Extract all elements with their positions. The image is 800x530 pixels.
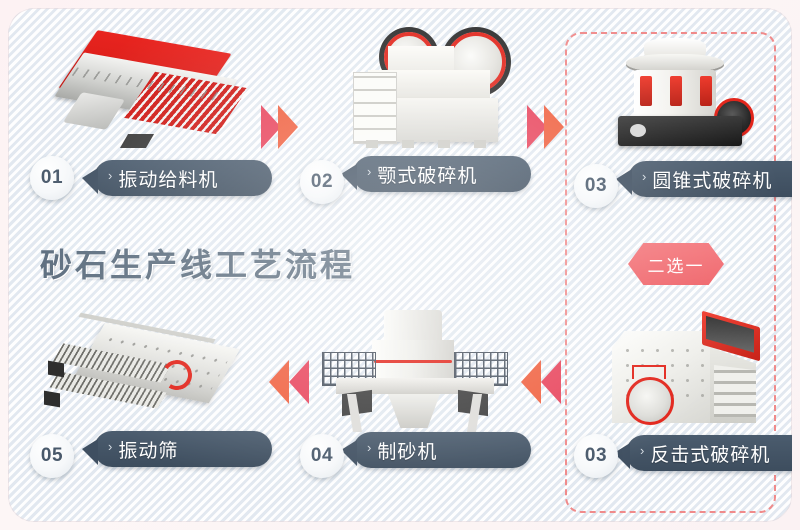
step-label-03-cone[interactable]: › 圆锥式破碎机 bbox=[628, 161, 792, 197]
screen-support-block-lower bbox=[44, 391, 60, 408]
impact-flywheel bbox=[626, 377, 674, 425]
step-number-text: 04 bbox=[311, 445, 333, 467]
vsi-discharge-hopper bbox=[388, 394, 440, 428]
flow-diagram-stage: › 振动给料机 01 › 颚式破碎机 02 › 圆锥式破碎机 03 二选一 › bbox=[0, 0, 800, 530]
chevron-right-icon: › bbox=[367, 165, 371, 178]
step-label-04[interactable]: › 制砂机 bbox=[353, 432, 531, 468]
chevron-right-icon: › bbox=[367, 441, 371, 454]
arrow-sand-maker-to-screen bbox=[269, 360, 306, 404]
machine-vibrating-screen-image bbox=[42, 320, 256, 436]
step-number-04: 04 bbox=[300, 434, 344, 478]
step-label-01[interactable]: › 振动给料机 bbox=[94, 160, 272, 196]
chevron-right-icon: › bbox=[642, 170, 646, 183]
step-number-05: 05 bbox=[30, 434, 74, 478]
vsi-drum bbox=[384, 310, 442, 344]
step-number-text: 03 bbox=[585, 445, 607, 467]
cone-hydraulic-cylinder bbox=[700, 76, 712, 106]
arrow-impact-to-sand-maker bbox=[521, 360, 558, 404]
machine-vibrating-feeder-image bbox=[42, 36, 252, 158]
step-number-text: 03 bbox=[585, 175, 607, 197]
step-label-text: 圆锥式破碎机 bbox=[652, 166, 772, 193]
step-number-03-impact: 03 bbox=[574, 434, 618, 478]
impact-blow-bars bbox=[714, 365, 756, 417]
step-label-text: 振动给料机 bbox=[118, 165, 218, 192]
jaw-legs bbox=[366, 140, 496, 148]
chevron-right-icon bbox=[278, 105, 298, 149]
cone-hydraulic-cylinder bbox=[640, 76, 652, 106]
chevron-left-icon bbox=[289, 360, 309, 404]
chevron-left-icon bbox=[541, 360, 561, 404]
option-choice-text: 二选一 bbox=[648, 252, 705, 277]
step-label-text: 反击式破碎机 bbox=[650, 440, 770, 467]
chevron-right-icon: › bbox=[108, 440, 112, 453]
chevron-right-icon bbox=[544, 105, 564, 149]
impact-lifting-hook bbox=[632, 365, 666, 379]
chevron-right-icon: › bbox=[108, 169, 112, 182]
chevron-left-icon bbox=[521, 360, 541, 404]
machine-sand-making-image bbox=[316, 308, 512, 436]
step-label-text: 颚式破碎机 bbox=[377, 161, 477, 188]
machine-impact-crusher-image bbox=[606, 313, 764, 439]
step-label-text: 制砂机 bbox=[377, 437, 437, 464]
chevron-left-icon bbox=[269, 360, 289, 404]
option-choice-badge: 二选一 bbox=[628, 243, 724, 285]
page-title: 砂石生产线工艺流程 bbox=[40, 240, 355, 286]
step-label-05[interactable]: › 振动筛 bbox=[94, 431, 272, 467]
arrow-jaw-to-crusher-choice bbox=[527, 105, 564, 149]
vsi-cone-housing bbox=[372, 340, 454, 378]
step-number-03-cone: 03 bbox=[574, 164, 618, 208]
cone-hydraulic-cylinder bbox=[670, 76, 682, 106]
machine-cone-crusher-image bbox=[608, 30, 760, 160]
step-number-text: 01 bbox=[41, 167, 63, 189]
step-number-text: 05 bbox=[41, 445, 63, 467]
step-label-03-impact[interactable]: › 反击式破碎机 bbox=[626, 435, 792, 471]
step-label-02[interactable]: › 颚式破碎机 bbox=[353, 156, 531, 192]
machine-jaw-crusher-image bbox=[348, 26, 518, 158]
arrow-feeder-to-jaw bbox=[261, 105, 298, 149]
feeder-foot bbox=[120, 134, 154, 148]
step-number-01: 01 bbox=[30, 156, 74, 200]
step-number-text: 02 bbox=[311, 171, 333, 193]
jaw-grid-frame bbox=[353, 72, 397, 144]
cone-base bbox=[618, 116, 742, 146]
step-number-02: 02 bbox=[300, 160, 344, 204]
diagram-panel: › 振动给料机 01 › 颚式破碎机 02 › 圆锥式破碎机 03 二选一 › bbox=[8, 8, 792, 522]
step-label-text: 振动筛 bbox=[118, 436, 178, 463]
vsi-red-stripe bbox=[374, 360, 452, 363]
screen-support-block-upper bbox=[48, 361, 64, 378]
chevron-right-icon: › bbox=[640, 444, 644, 457]
